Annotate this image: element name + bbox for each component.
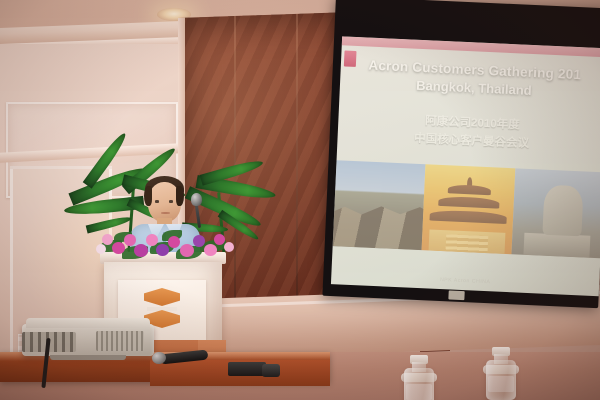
hexagon-chevron-logo-icon: [144, 288, 180, 306]
temple-roof-top: [448, 184, 491, 195]
slide-photo-strip: [333, 160, 600, 258]
presenter-eye-right: [169, 200, 173, 203]
flower-bloom: [146, 234, 158, 246]
water-bottle-left: [404, 352, 440, 400]
gooseneck-microphone-icon: [191, 193, 202, 206]
flower-bloom: [156, 244, 169, 256]
temple-roof-low: [429, 209, 506, 224]
wireless-receiver: [228, 362, 266, 376]
presenter-mouth: [161, 212, 170, 214]
flower-bloom: [124, 234, 136, 246]
temple-of-heaven-photo: [422, 164, 515, 254]
flower-bloom: [204, 244, 217, 256]
flower-bloom: [134, 244, 148, 257]
flower-bloom: [224, 242, 234, 252]
flower-bloom: [180, 244, 194, 257]
presenter-hair-left: [144, 186, 152, 206]
projector: [22, 318, 154, 360]
stone-lion-photo: [511, 168, 600, 258]
flower-bloom: [193, 235, 205, 247]
flower-bloom: [102, 234, 113, 245]
projector-vent: [96, 331, 144, 351]
presenter-eye-left: [155, 200, 159, 203]
great-wall-photo: [333, 160, 426, 250]
screen-bottom-mount: [448, 290, 464, 300]
conference-photo-scene: Acron Customers Gathering 201 Bangkok, T…: [0, 0, 600, 400]
presenter-hair-right: [176, 186, 184, 206]
temple-steps: [445, 234, 489, 253]
temple-roof-mid: [438, 196, 499, 209]
flower-bloom: [214, 234, 225, 245]
projector-lid: [26, 318, 150, 328]
projector-foot: [50, 355, 126, 360]
bottle-label: [488, 376, 514, 392]
water-bottle-right: [486, 338, 522, 400]
flower-bloom: [112, 242, 125, 254]
damask-seam-2: [296, 14, 298, 344]
flower-bloom: [168, 236, 180, 248]
screen-surface: Acron Customers Gathering 201 Bangkok, T…: [331, 36, 600, 296]
bottle-label: [406, 384, 432, 400]
wireless-receiver-antenna: [262, 364, 280, 377]
flower-bloom: [96, 244, 106, 254]
damask-seam-1: [234, 16, 236, 346]
flower-arrangement: [96, 222, 236, 264]
projection-screen: Acron Customers Gathering 201 Bangkok, T…: [322, 0, 600, 308]
